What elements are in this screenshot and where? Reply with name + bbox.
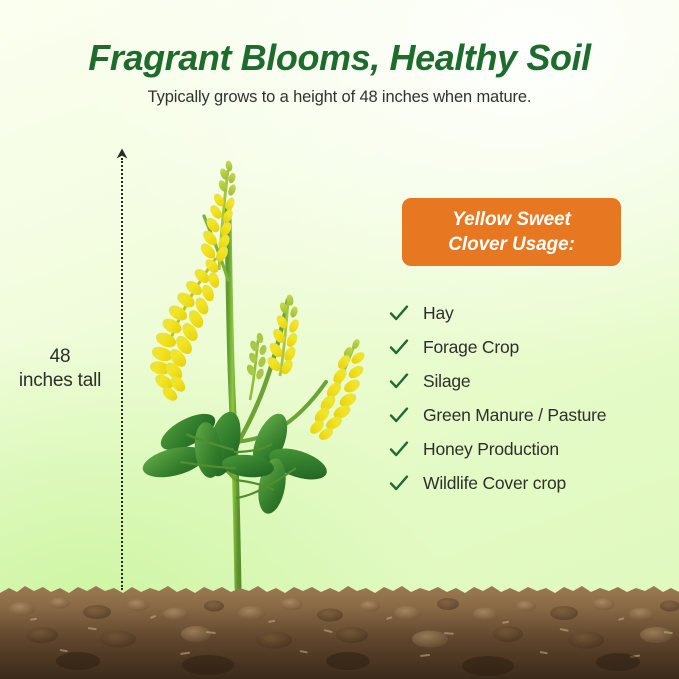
height-unit: inches tall — [4, 369, 116, 393]
list-item-label: Hay — [423, 303, 454, 324]
list-item-label: Green Manure / Pasture — [423, 405, 606, 426]
list-item-label: Wildlife Cover crop — [423, 473, 566, 494]
usage-badge-label: Yellow Sweet Clover Usage: — [448, 207, 574, 257]
page-subtitle: Typically grows to a height of 48 inches… — [0, 88, 679, 107]
infographic-poster: Fragrant Blooms, Healthy Soil Typically … — [0, 0, 679, 679]
list-item-label: Forage Crop — [423, 337, 519, 358]
check-icon — [388, 302, 410, 324]
check-icon — [388, 370, 410, 392]
list-item: Hay — [388, 296, 676, 330]
check-icon — [388, 336, 410, 358]
usage-badge: Yellow Sweet Clover Usage: — [402, 198, 621, 266]
list-item-label: Honey Production — [423, 439, 559, 460]
list-item: Wildlife Cover crop — [388, 466, 676, 500]
usage-list: Hay Forage Crop Silage Green Manure / Pa… — [388, 296, 676, 500]
list-item: Honey Production — [388, 432, 676, 466]
check-icon — [388, 438, 410, 460]
soil-ground-band — [0, 579, 679, 679]
yellow-sweet-clover-plant — [120, 150, 380, 600]
list-item: Silage — [388, 364, 676, 398]
page-title: Fragrant Blooms, Healthy Soil — [0, 38, 679, 78]
header: Fragrant Blooms, Healthy Soil Typically … — [0, 38, 679, 107]
height-value: 48 — [4, 345, 116, 369]
check-icon — [388, 404, 410, 426]
list-item: Green Manure / Pasture — [388, 398, 676, 432]
check-icon — [388, 472, 410, 494]
list-item: Forage Crop — [388, 330, 676, 364]
height-label: 48 inches tall — [4, 345, 116, 394]
list-item-label: Silage — [423, 371, 470, 392]
